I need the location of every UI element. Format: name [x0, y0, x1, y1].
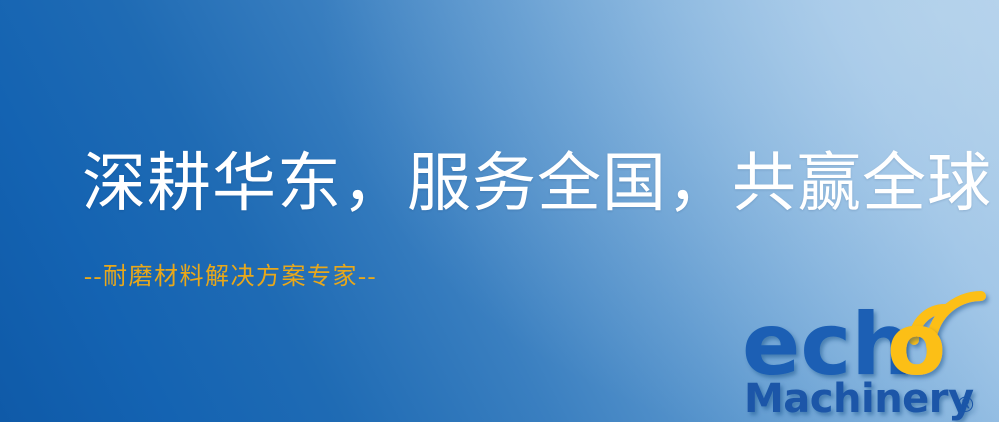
- banner-headline: 深耕华东，服务全国，共赢全球: [82, 152, 992, 216]
- logo-tagline: Machinery: [744, 376, 974, 422]
- banner-subtitle: --耐磨材料解决方案专家--: [84, 265, 377, 289]
- echo-machinery-logo[interactable]: ech o Machinery ®: [742, 296, 999, 422]
- registered-trademark-icon: ®: [955, 393, 976, 417]
- hero-banner: 深耕华东，服务全国，共赢全球 --耐磨材料解决方案专家-- ech o: [0, 0, 999, 422]
